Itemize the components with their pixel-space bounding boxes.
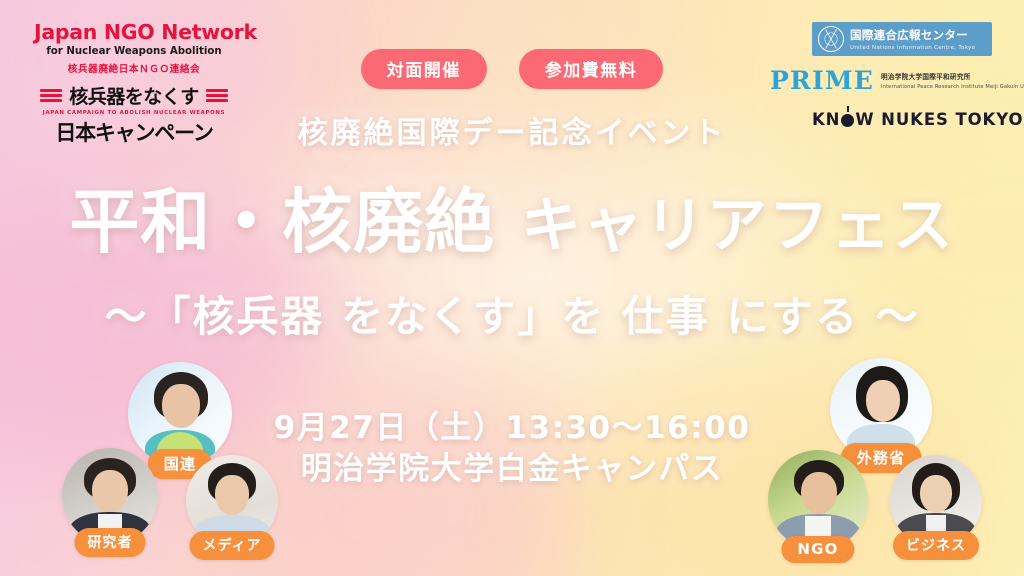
badge-free-admission: 参加費無料 bbox=[519, 49, 664, 89]
speaker-tag-researcher: 研究者 bbox=[75, 528, 146, 557]
speaker-ngo: NGO bbox=[768, 450, 868, 550]
main-title-part-a: 平和・核廃絶 bbox=[69, 181, 495, 263]
headline-block: 核廃絶国際デー記念イベント 平和・核廃絶 キャリアフェス 〜「核兵器 をなくす」… bbox=[0, 108, 1024, 344]
avatar bbox=[768, 450, 868, 550]
main-title-part-b: キャリアフェス bbox=[521, 191, 955, 261]
speaker-tag-business: ビジネス bbox=[893, 531, 979, 560]
speaker-tag-ngo: NGO bbox=[781, 536, 854, 563]
speaker-business: ビジネス bbox=[890, 455, 982, 547]
speaker-mofa: 外務省 bbox=[830, 358, 932, 460]
event-poster: Japan NGO Network for Nuclear Weapons Ab… bbox=[0, 0, 1024, 576]
unic-text-block: 国際連合広報センター United Nations Information Ce… bbox=[850, 27, 986, 51]
badge-in-person: 対面開催 bbox=[361, 49, 487, 89]
unic-japanese-name: 国際連合広報センター bbox=[850, 27, 986, 43]
bars-icon bbox=[40, 87, 62, 104]
portrait-ngo bbox=[768, 450, 868, 550]
speaker-media: メディア bbox=[186, 455, 278, 547]
event-eyebrow: 核廃絶国際デー記念イベント bbox=[0, 108, 1024, 152]
speaker-tag-media: メディア bbox=[189, 531, 274, 560]
sub-title: 〜「核兵器 をなくす」を 仕事 にする 〜 bbox=[0, 283, 1024, 344]
bars-icon bbox=[206, 87, 228, 104]
main-title: 平和・核廃絶 キャリアフェス bbox=[0, 166, 1024, 267]
jngo-title: Japan NGO Network bbox=[34, 22, 234, 44]
badge-row: 対面開催 参加費無料 bbox=[0, 49, 1024, 89]
speaker-researcher: 研究者 bbox=[62, 448, 158, 544]
